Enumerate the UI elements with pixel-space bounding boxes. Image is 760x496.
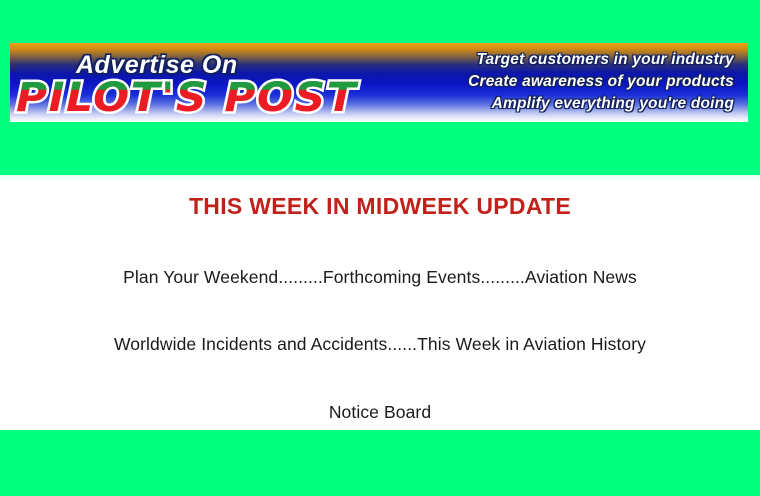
banner-taglines: Target customers in your industry Create…: [404, 49, 734, 115]
bottom-green-band: [0, 430, 760, 496]
tagline-1: Target customers in your industry: [404, 49, 734, 71]
contents-line-3: Notice Board: [0, 402, 760, 423]
content-panel: THIS WEEK IN MIDWEEK UPDATE Plan Your We…: [0, 175, 760, 430]
newsletter-page: Advertise On PILOT'S POST PILOT'S POST P…: [0, 0, 760, 496]
top-green-band: Advertise On PILOT'S POST PILOT'S POST P…: [0, 0, 760, 175]
advertising-banner[interactable]: Advertise On PILOT'S POST PILOT'S POST P…: [10, 43, 748, 122]
contents-line-2: Worldwide Incidents and Accidents......T…: [0, 334, 760, 355]
contents-line-1: Plan Your Weekend.........Forthcoming Ev…: [0, 267, 760, 288]
banner-brand-area: Advertise On PILOT'S POST PILOT'S POST P…: [10, 43, 410, 122]
tagline-3: Amplify everything you're doing: [404, 93, 734, 115]
content-top-fade: [0, 175, 760, 181]
tagline-2: Create awareness of your products: [404, 71, 734, 93]
page-title: THIS WEEK IN MIDWEEK UPDATE: [0, 193, 760, 220]
pilots-post-logo: PILOT'S POST PILOT'S POST PILOT'S POST: [16, 75, 396, 121]
